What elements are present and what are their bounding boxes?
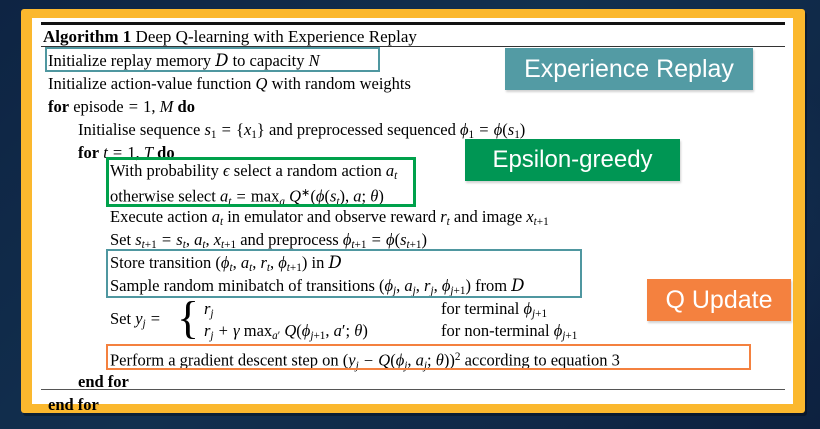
line-gradient-descent: Perform a gradient descent step on (yj −… <box>110 346 620 378</box>
callout-q-update[interactable]: Q Update <box>647 279 791 321</box>
callout-experience-replay[interactable]: Experience Replay <box>505 48 753 90</box>
line-end-for-outer: end for <box>48 393 99 416</box>
line-case-nonterminal-condition: for non-terminal ϕj+1 <box>441 319 577 348</box>
line-set-yj-lead: Set yj = <box>110 307 161 336</box>
line-case-nonterminal-value: rj + γ maxa′ Q(ϕj+1, a′; θ) <box>204 319 368 348</box>
algorithm-title-text: Deep Q-learning with Experience Replay <box>136 27 417 46</box>
rule-bottom <box>41 389 785 390</box>
cases-brace: { <box>177 295 199 341</box>
line-init-replay-memory: Initialize replay memory D to capacity N <box>48 49 320 72</box>
algorithm-title: Algorithm 1 Deep Q-learning with Experie… <box>43 25 417 48</box>
algorithm-label: Algorithm 1 <box>43 27 131 46</box>
slide: Algorithm 1 Deep Q-learning with Experie… <box>0 0 820 429</box>
line-init-action-value: Initialize action-value function Q with … <box>48 72 411 95</box>
line-end-for-inner: end for <box>78 370 129 393</box>
callout-epsilon-greedy[interactable]: Epsilon-greedy <box>465 139 680 181</box>
line-for-episode: for episode = 1, M do <box>48 95 195 118</box>
